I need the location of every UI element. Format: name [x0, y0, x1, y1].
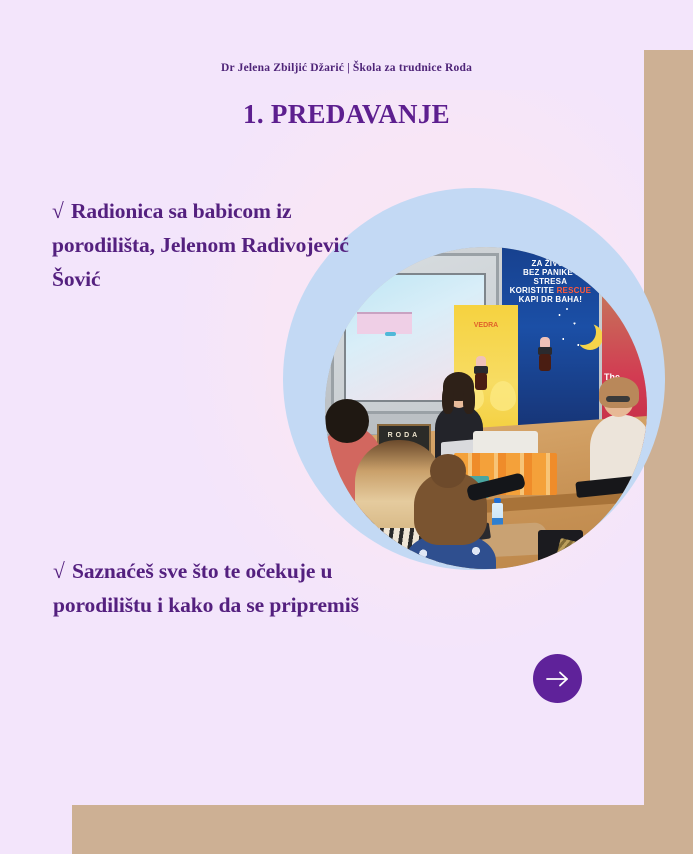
check-icon: √ — [53, 559, 65, 583]
tan-panel-bottom — [72, 805, 693, 854]
person-attendee-right — [589, 382, 647, 485]
bullet-item-2: √ Saznaćeš sve što te očekuje u porodili… — [53, 554, 393, 622]
next-slide-button[interactable] — [533, 654, 582, 703]
moon-icon — [570, 319, 596, 345]
person-foreground-bun — [409, 460, 493, 569]
banner-line-3-text: KORISTITE — [510, 286, 554, 295]
bullet-item-1: √ Radionica sa babicom iz porodilišta, J… — [52, 194, 382, 296]
banner-line-3: KORISTITE RESCUE — [506, 286, 595, 295]
banner-line-2: BEZ PANIKE I STRESA — [506, 268, 595, 286]
dropper-bottle-night — [537, 337, 553, 371]
slide-canvas: ZA ŽIVOT BEZ PANIKE I STRESA KORISTITE R… — [0, 0, 693, 854]
banner-highlight-rescue: RESCUE — [557, 286, 592, 295]
bullet-item-1-text: Radionica sa babicom iz porodilišta, Jel… — [52, 199, 349, 291]
letterboard-text: RODA — [379, 432, 430, 439]
bullet-item-2-text: Saznaćeš sve što te očekuje u porodilišt… — [53, 559, 359, 617]
banner-line-1: ZA ŽIVOT — [506, 259, 595, 268]
slide-button — [385, 332, 396, 336]
banner-yellow-text: VEDRA — [454, 322, 518, 329]
page-title: 1. PREDAVANJE — [0, 99, 693, 130]
presenter-byline: Dr Jelena Zbiljić Džarić | Škola za trud… — [0, 62, 693, 74]
drop-shape-right — [490, 381, 516, 411]
projected-slide — [357, 312, 412, 334]
check-icon: √ — [52, 199, 64, 223]
banner-blue-text: ZA ŽIVOT BEZ PANIKE I STRESA KORISTITE R… — [506, 259, 595, 304]
arrow-right-icon — [545, 669, 571, 689]
